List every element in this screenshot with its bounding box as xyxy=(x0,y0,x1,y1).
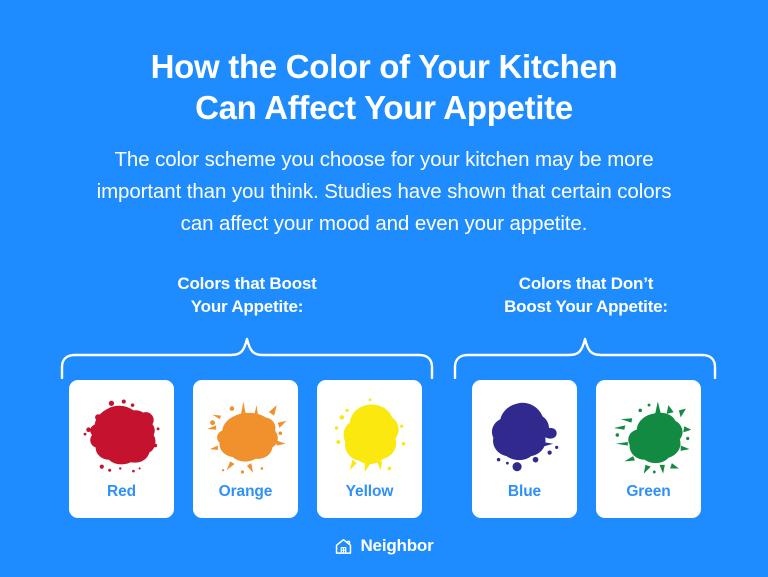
group-heading-no-boost-line-2: Boost Your Appetite: xyxy=(461,295,711,318)
color-card-label: Orange xyxy=(219,483,273,501)
paint-splatter-icon xyxy=(202,389,290,481)
brand-name: Neighbor xyxy=(360,536,433,556)
color-card-blue[interactable]: Blue xyxy=(472,380,577,518)
color-card-label: Yellow xyxy=(346,483,394,501)
paint-splatter-icon xyxy=(326,389,414,481)
color-card-label: Blue xyxy=(508,483,541,501)
group-heading-boost: Colors that Boost Your Appetite: xyxy=(122,272,372,318)
paint-splatter-icon xyxy=(605,389,693,481)
page-title: How the Color of Your Kitchen Can Affect… xyxy=(0,46,768,128)
color-card-label: Red xyxy=(107,483,136,501)
group-heading-no-boost-line-1: Colors that Don’t xyxy=(461,272,711,295)
color-card-row: Red xyxy=(0,380,768,520)
color-card-red[interactable]: Red xyxy=(69,380,174,518)
title-line-2: Can Affect Your Appetite xyxy=(0,87,768,128)
paint-splatter-icon xyxy=(481,389,569,481)
curly-brace-up-icon-left xyxy=(60,337,434,379)
infographic-canvas: How the Color of Your Kitchen Can Affect… xyxy=(0,0,768,577)
color-card-green[interactable]: Green xyxy=(596,380,701,518)
curly-brace-up-icon-right xyxy=(453,337,717,379)
group-heading-boost-line-2: Your Appetite: xyxy=(122,295,372,318)
footer-brand: Neighbor xyxy=(0,536,768,556)
page-subtitle: The color scheme you choose for your kit… xyxy=(62,144,706,240)
group-heading-no-boost: Colors that Don’t Boost Your Appetite: xyxy=(461,272,711,318)
paint-splatter-icon xyxy=(78,389,166,481)
house-logo-icon xyxy=(334,537,353,556)
subtitle-line-2: important than you think. Studies have s… xyxy=(62,176,706,208)
color-card-yellow[interactable]: Yellow xyxy=(317,380,422,518)
color-card-label: Green xyxy=(626,483,670,501)
color-card-orange[interactable]: Orange xyxy=(193,380,298,518)
subtitle-line-3: can affect your mood and even your appet… xyxy=(62,208,706,240)
group-heading-boost-line-1: Colors that Boost xyxy=(122,272,372,295)
title-line-1: How the Color of Your Kitchen xyxy=(151,48,618,85)
subtitle-line-1: The color scheme you choose for your kit… xyxy=(62,144,706,176)
